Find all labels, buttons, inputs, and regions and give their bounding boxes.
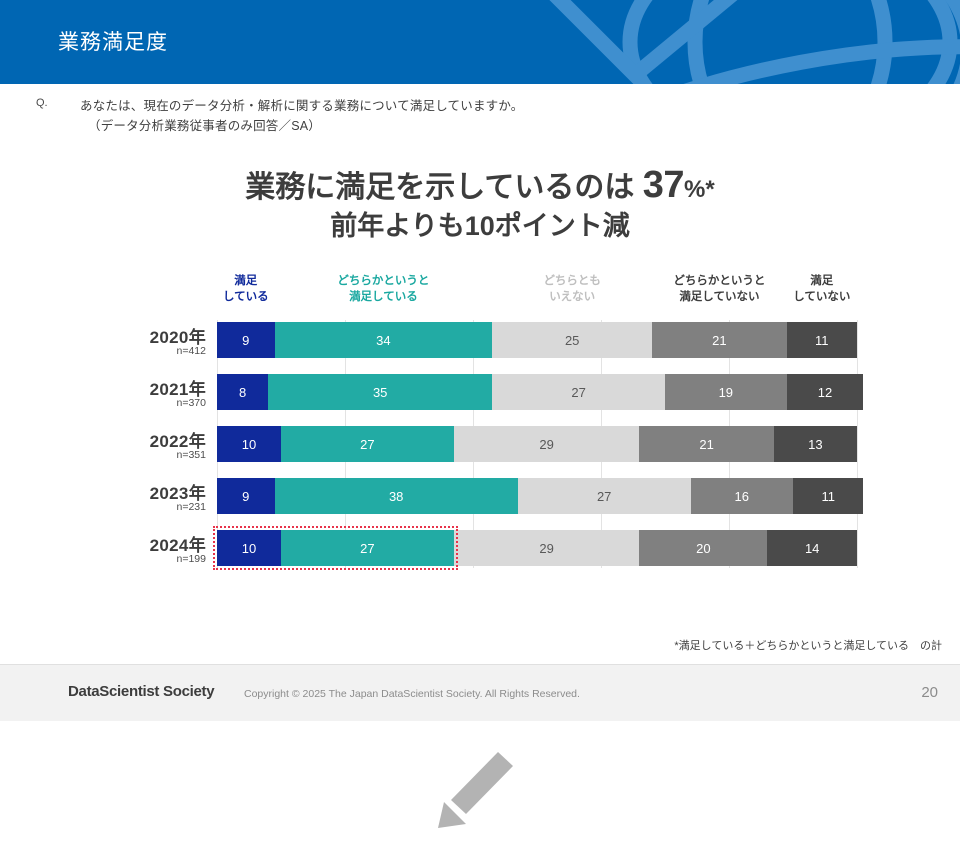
bar-value-label: 9: [242, 489, 249, 504]
bar-segment[interactable]: 19: [665, 374, 787, 410]
bar-value-label: 9: [242, 333, 249, 348]
gridline-100: [857, 320, 858, 568]
bar-value-label: 13: [808, 437, 822, 452]
category-label-2024年: 2024年n=199: [88, 531, 206, 565]
chart-legend: 満足しているどちらかというと満足しているどちらともいえないどちらかというと満足し…: [0, 272, 960, 316]
bar-value-label: 16: [735, 489, 749, 504]
bar-value-label: 11: [815, 333, 829, 348]
bar-value-label: 35: [373, 385, 387, 400]
bar-segment[interactable]: 27: [518, 478, 691, 514]
category-sample-size: n=351: [88, 449, 206, 461]
bar-segment[interactable]: 20: [639, 530, 767, 566]
bar-segment[interactable]: 29: [454, 426, 640, 462]
slide-header: 業務満足度: [0, 0, 960, 84]
legend-label-line2-4: していない: [752, 290, 892, 306]
headline: 業務に満足を示しているのは 37%* 前年よりも10ポイント減: [0, 162, 960, 243]
bar-value-label: 10: [242, 541, 256, 556]
category-sample-size: n=231: [88, 501, 206, 513]
bar-segment[interactable]: 35: [268, 374, 492, 410]
bar-segment[interactable]: 27: [492, 374, 665, 410]
bar-value-label: 19: [719, 385, 733, 400]
bar-segment[interactable]: 10: [217, 426, 281, 462]
bar-value-label: 29: [539, 541, 553, 556]
bar-row-2020年: 934252111: [217, 322, 857, 358]
legend-label-line1-0: 満足: [176, 274, 316, 290]
footer-logo: DataScientist Society: [68, 683, 214, 700]
category-label-2021年: 2021年n=370: [88, 375, 206, 409]
headline-line-2: 前年よりも10ポイント減: [0, 210, 960, 243]
bar-segment[interactable]: 21: [652, 322, 786, 358]
headline-prefix: 業務に満足を示しているのは: [245, 171, 634, 204]
bar-value-label: 14: [805, 541, 819, 556]
bar-value-label: 21: [699, 437, 713, 452]
slide-footer: DataScientist Society Copyright © 2025 T…: [0, 664, 960, 721]
headline-number: 37: [643, 164, 684, 206]
legend-item-0[interactable]: 満足している: [176, 274, 316, 305]
legend-label-line2-2: いえない: [502, 290, 642, 306]
legend-item-1[interactable]: どちらかというと満足している: [313, 274, 453, 305]
legend-label-line1-2: どちらとも: [502, 274, 642, 290]
bar-value-label: 34: [376, 333, 390, 348]
bar-segment[interactable]: 12: [787, 374, 864, 410]
legend-label-line1-4: 満足: [752, 274, 892, 290]
bar-value-label: 38: [389, 489, 403, 504]
decline-arrow-icon: [420, 742, 560, 852]
bar-segment[interactable]: 27: [281, 426, 454, 462]
category-label-2023年: 2023年n=231: [88, 479, 206, 513]
bar-row-2024年: 1027292014: [217, 530, 857, 566]
bar-value-label: 27: [360, 541, 374, 556]
question-line-1: あなたは、現在のデータ分析・解析に関する業務について満足していますか。: [80, 95, 524, 114]
question-marker: Q.: [36, 97, 48, 109]
bar-value-label: 27: [597, 489, 611, 504]
legend-item-2[interactable]: どちらともいえない: [502, 274, 642, 305]
bar-value-label: 12: [818, 385, 832, 400]
bar-segment[interactable]: 16: [691, 478, 793, 514]
legend-label-line2-1: 満足している: [313, 290, 453, 306]
bar-segment[interactable]: 29: [454, 530, 640, 566]
category-label-2022年: 2022年n=351: [88, 427, 206, 461]
bar-segment[interactable]: 25: [492, 322, 652, 358]
bar-segment[interactable]: 9: [217, 478, 275, 514]
bar-segment[interactable]: 27: [281, 530, 454, 566]
bar-segment[interactable]: 34: [275, 322, 493, 358]
category-label-2020年: 2020年n=412: [88, 323, 206, 357]
bar-value-label: 21: [712, 333, 726, 348]
category-sample-size: n=370: [88, 397, 206, 409]
question-line-2: （データ分析業務従事者のみ回答／SA）: [88, 115, 321, 134]
bar-segment[interactable]: 14: [767, 530, 857, 566]
bar-segment[interactable]: 10: [217, 530, 281, 566]
bar-segment[interactable]: 13: [774, 426, 857, 462]
bar-segment[interactable]: 38: [275, 478, 518, 514]
legend-label-line2-0: している: [176, 290, 316, 306]
bar-row-2021年: 835271912: [217, 374, 857, 410]
bar-segment[interactable]: 9: [217, 322, 275, 358]
headline-percent-suffix: %*: [684, 176, 715, 203]
chart-plot-area: 2020年n=4129342521112021年n=37083527191220…: [0, 320, 960, 570]
bar-segment[interactable]: 11: [793, 478, 863, 514]
bar-value-label: 27: [360, 437, 374, 452]
footer-copyright: Copyright © 2025 The Japan DataScientist…: [244, 688, 580, 700]
bar-value-label: 10: [242, 437, 256, 452]
bar-row-2023年: 938271611: [217, 478, 857, 514]
bar-segment[interactable]: 8: [217, 374, 268, 410]
bar-value-label: 27: [571, 385, 585, 400]
bar-row-2022年: 1027292113: [217, 426, 857, 462]
bar-value-label: 25: [565, 333, 579, 348]
bar-value-label: 8: [239, 385, 246, 400]
legend-item-4[interactable]: 満足していない: [752, 274, 892, 305]
legend-label-line1-1: どちらかというと: [313, 274, 453, 290]
page-number: 20: [921, 684, 938, 701]
bar-value-label: 11: [821, 489, 835, 504]
headline-line-1: 業務に満足を示しているのは 37%*: [0, 162, 960, 208]
stacked-bar-chart: 満足しているどちらかというと満足しているどちらともいえないどちらかというと満足し…: [0, 272, 960, 602]
bar-value-label: 29: [539, 437, 553, 452]
bar-value-label: 20: [696, 541, 710, 556]
bar-segment[interactable]: 21: [639, 426, 773, 462]
chart-footnote: *満足している＋どちらかというと満足している の計: [674, 637, 942, 653]
category-sample-size: n=199: [88, 553, 206, 565]
globe-network-watermark-icon: [460, 0, 960, 84]
category-sample-size: n=412: [88, 345, 206, 357]
bar-segment[interactable]: 11: [787, 322, 857, 358]
page-title: 業務満足度: [58, 26, 168, 56]
